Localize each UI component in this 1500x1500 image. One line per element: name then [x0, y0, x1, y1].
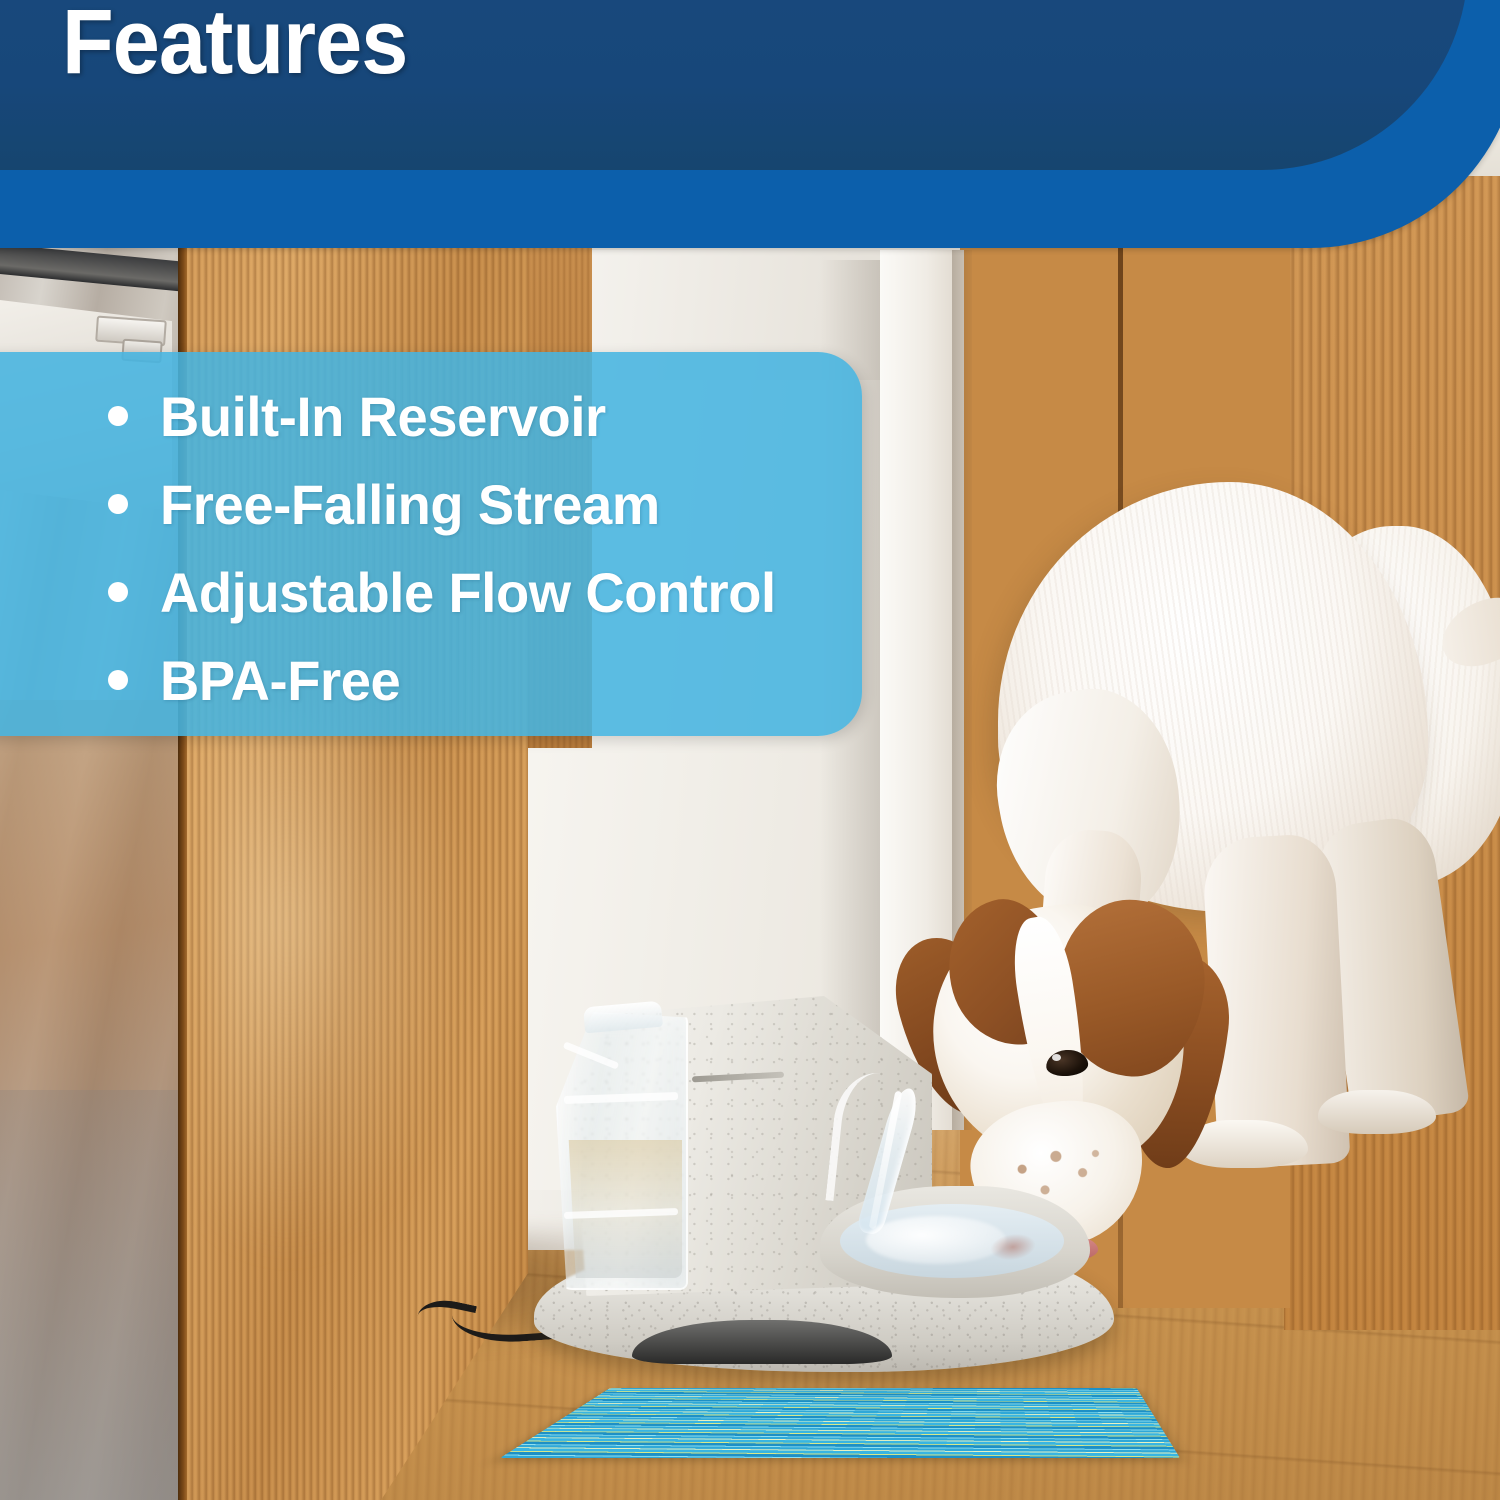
feature-list-item: Free-Falling Stream	[108, 460, 928, 548]
feature-label: Free-Falling Stream	[160, 472, 660, 537]
foreground-cabinet-highlight	[210, 700, 470, 1260]
dot-bullet-icon	[108, 406, 128, 426]
page-title: Features	[62, 0, 407, 88]
header-banner: Features	[0, 0, 1500, 248]
blue-striped-mat	[500, 1388, 1180, 1458]
features-list: Built-In Reservoir Free-Falling Stream A…	[108, 372, 928, 724]
feature-list-item: Adjustable Flow Control	[108, 548, 928, 636]
dot-bullet-icon	[108, 670, 128, 690]
steel-lower-reflection	[0, 1090, 196, 1500]
bowl-water-splash	[866, 1216, 1006, 1264]
feature-label: Built-In Reservoir	[160, 384, 606, 449]
product-feature-poster: Features Built-In Reservoir Free-Falling…	[0, 0, 1500, 1500]
feature-list-item: BPA-Free	[108, 636, 928, 724]
dot-bullet-icon	[108, 582, 128, 602]
dot-bullet-icon	[108, 494, 128, 514]
feature-label: Adjustable Flow Control	[160, 560, 776, 625]
dog-paw	[1318, 1090, 1436, 1134]
feature-list-item: Built-In Reservoir	[108, 372, 928, 460]
feature-label: BPA-Free	[160, 648, 400, 713]
pet-water-fountain	[520, 990, 1140, 1390]
